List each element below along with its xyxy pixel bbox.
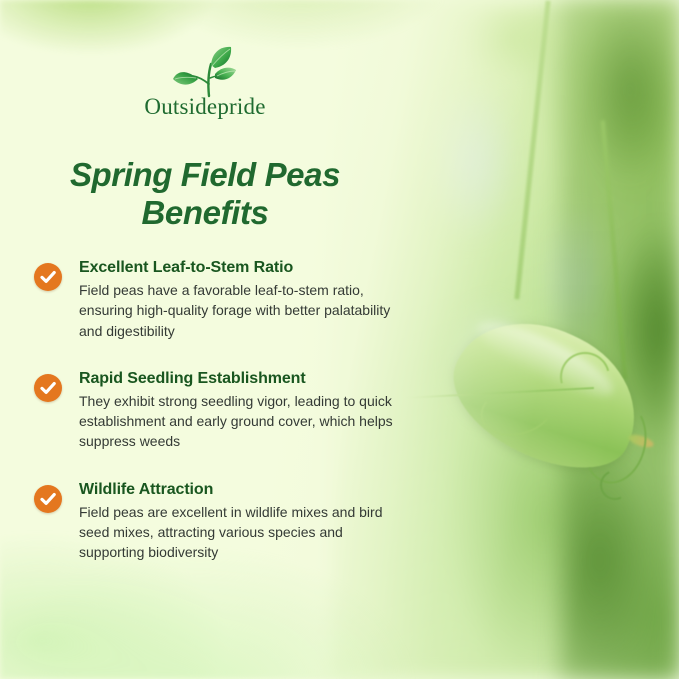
benefit-description: Field peas have a favorable leaf-to-stem… xyxy=(79,280,409,341)
benefit-item: Rapid Seedling Establishment They exhibi… xyxy=(34,369,409,452)
brand-logo[interactable]: Outsidepride xyxy=(0,44,410,120)
benefit-description: They exhibit strong seedling vigor, lead… xyxy=(79,391,409,452)
three-leaf-plant-icon xyxy=(168,44,242,98)
content-layer: Outsidepride Spring Field Peas Benefits … xyxy=(0,0,679,679)
benefit-title: Wildlife Attraction xyxy=(79,480,409,500)
check-circle-icon xyxy=(34,374,62,402)
benefit-description: Field peas are excellent in wildlife mix… xyxy=(79,502,409,563)
page-title-line-1: Spring Field Peas xyxy=(0,156,410,194)
benefit-item: Excellent Leaf-to-Stem Ratio Field peas … xyxy=(34,258,409,341)
brand-wordmark: Outsidepride xyxy=(0,94,410,120)
check-circle-icon xyxy=(34,485,62,513)
benefit-item: Wildlife Attraction Field peas are excel… xyxy=(34,480,409,563)
page-title-line-2: Benefits xyxy=(0,194,410,232)
benefits-list: Excellent Leaf-to-Stem Ratio Field peas … xyxy=(34,258,409,563)
benefit-title: Excellent Leaf-to-Stem Ratio xyxy=(79,258,409,278)
infographic-canvas: Outsidepride Spring Field Peas Benefits … xyxy=(0,0,679,679)
benefit-title: Rapid Seedling Establishment xyxy=(79,369,409,389)
check-circle-icon xyxy=(34,263,62,291)
page-title: Spring Field Peas Benefits xyxy=(0,156,410,233)
